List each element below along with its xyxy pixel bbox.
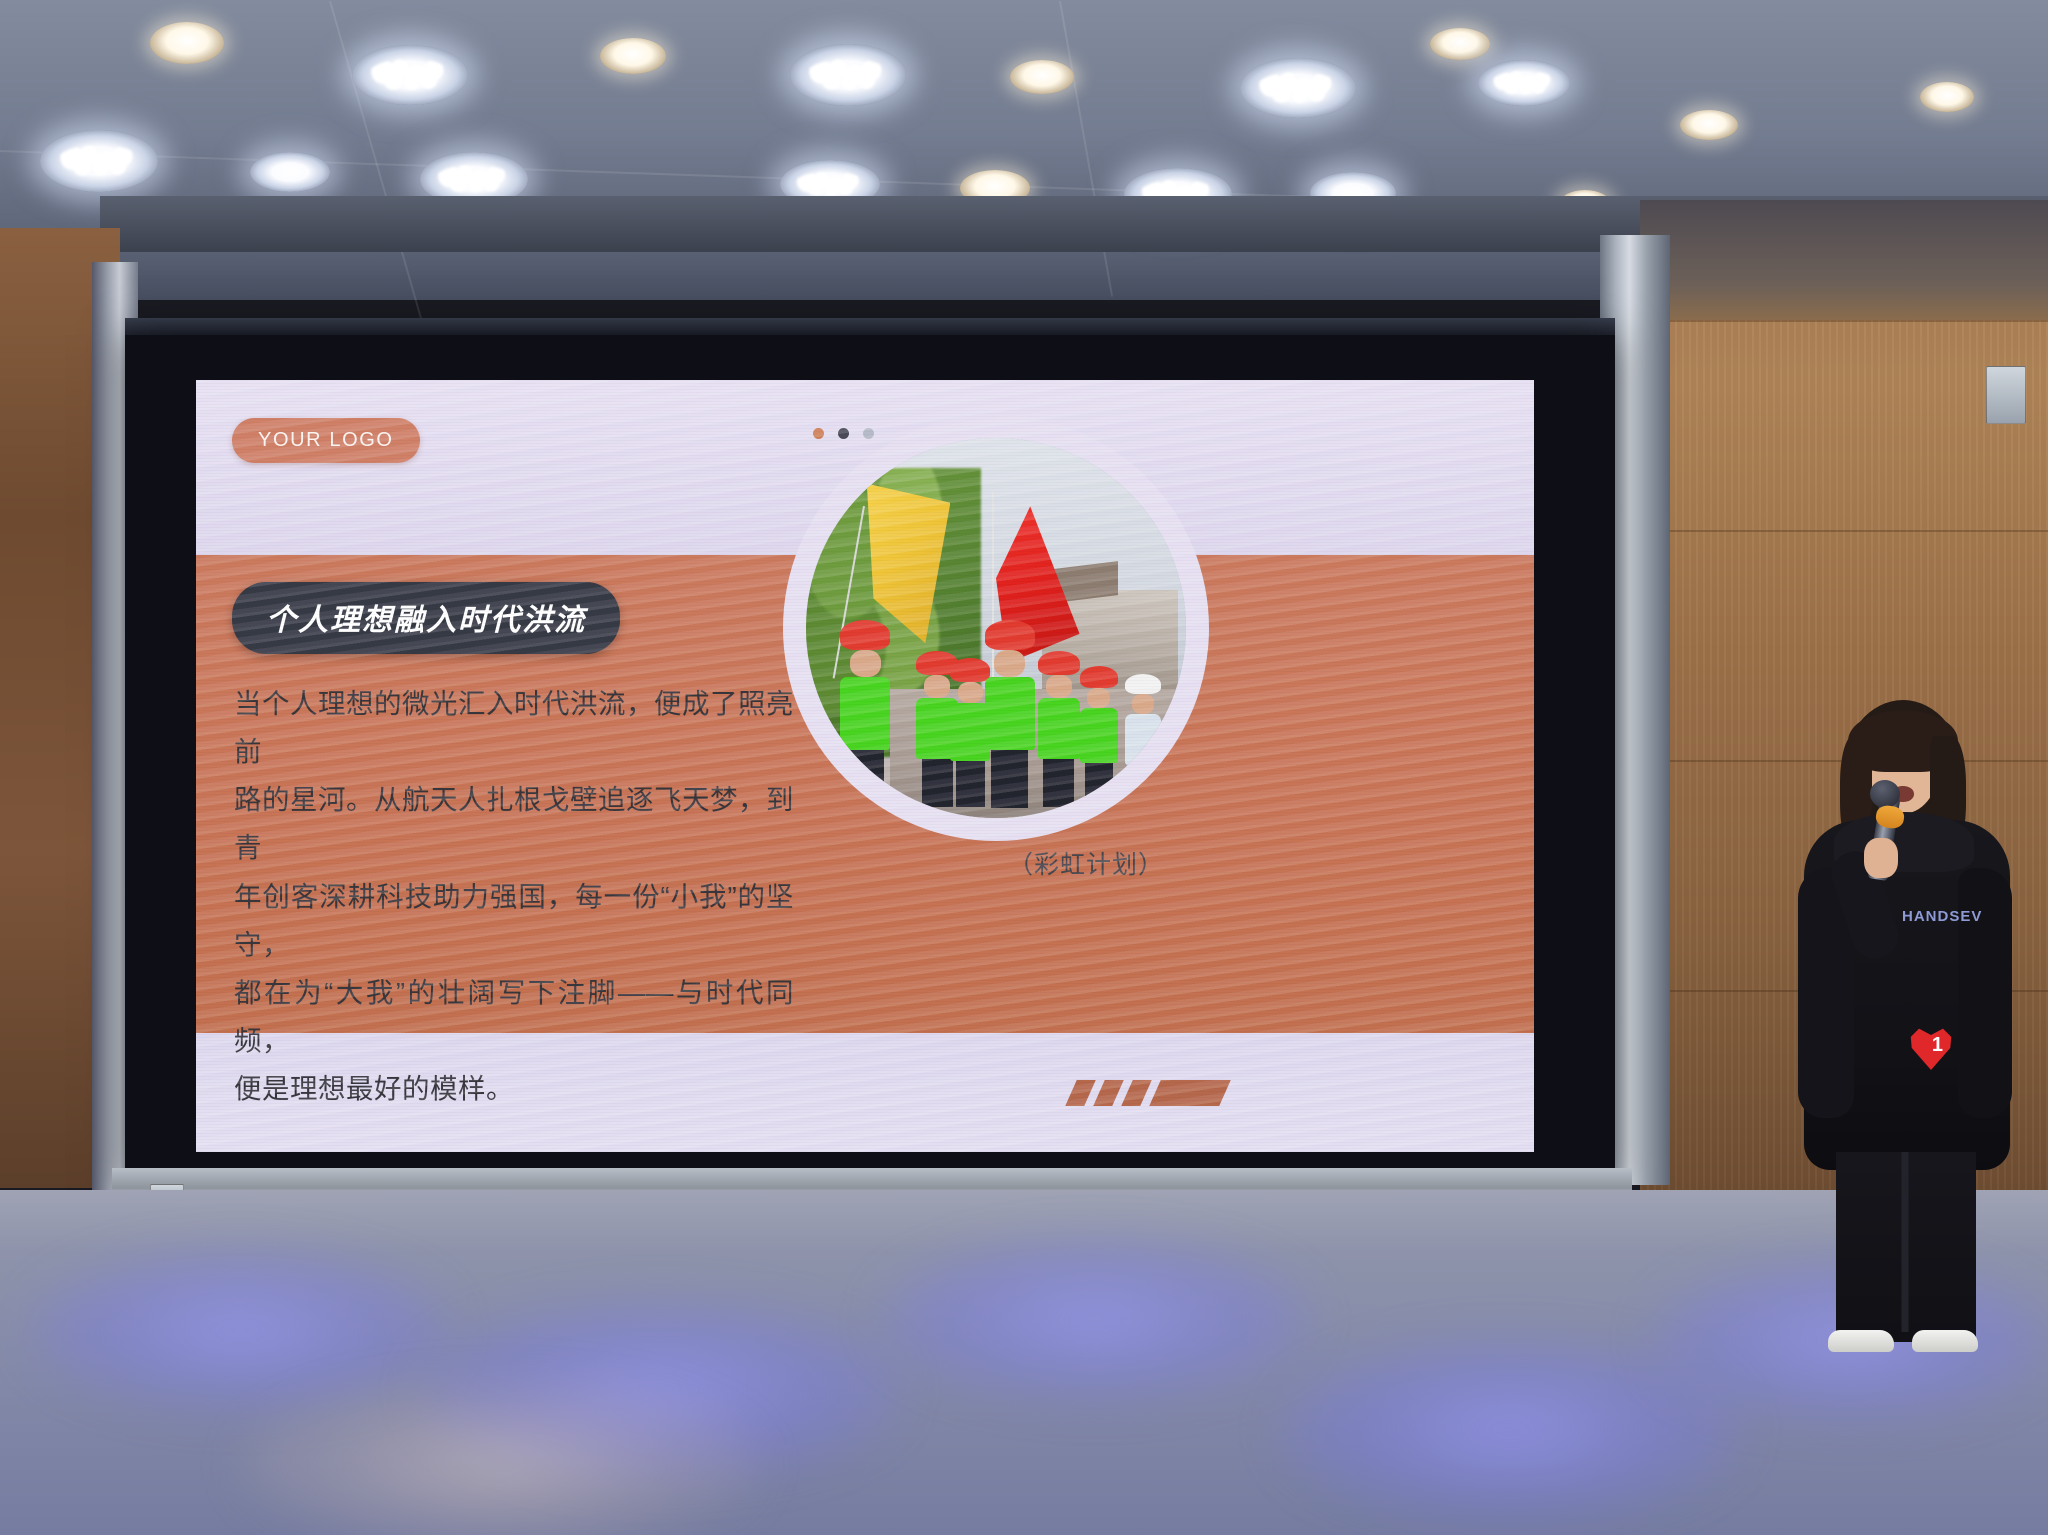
ceiling-light — [150, 22, 224, 64]
slash-icon — [1121, 1080, 1152, 1106]
heart-badge-label: 1 — [1932, 1034, 1943, 1057]
slide-title: 个人理想融入时代洪流 — [232, 582, 620, 654]
ceiling-light — [1240, 58, 1356, 118]
ceiling-light — [1920, 82, 1974, 112]
body-line: 便是理想最好的模样。 — [234, 1065, 794, 1113]
ceiling-light — [600, 38, 666, 74]
wall-upper-band — [1640, 200, 2048, 320]
floor-light-pool — [880, 1240, 1310, 1400]
auditorium-scene: YOUR LOGO 个人理想融入时代洪流 当个人理想的微光汇入时代洪流，便成了照… — [0, 0, 2048, 1535]
ceiling-light — [1430, 28, 1490, 60]
presenter-leg-gap — [1902, 1152, 1909, 1332]
presentation-slide: YOUR LOGO 个人理想融入时代洪流 当个人理想的微光汇入时代洪流，便成了照… — [196, 380, 1534, 1152]
wall-panel-line — [1640, 320, 2048, 322]
wall-panel-box — [1986, 366, 2026, 424]
ceiling-light — [250, 152, 330, 192]
presenter: HANDSEV 1 — [1790, 700, 2020, 1360]
photo-person — [840, 620, 890, 802]
photo-person — [1125, 674, 1161, 803]
ceiling-light — [790, 44, 906, 106]
body-line: 路的星河。从航天人扎根戈壁追逐飞天梦，到青 — [234, 776, 794, 872]
photo-person — [985, 620, 1035, 802]
logo-badge[interactable]: YOUR LOGO — [232, 418, 420, 463]
photo-person — [1080, 666, 1118, 803]
slide-photo — [806, 438, 1186, 818]
floor-light-pool — [30, 1250, 450, 1410]
slash-icon — [1149, 1080, 1231, 1106]
slide-body-text: 当个人理想的微光汇入时代洪流，便成了照亮前 路的星河。从航天人扎根戈壁追逐飞天梦… — [234, 680, 794, 1113]
presenter-hand — [1864, 838, 1898, 878]
ceiling-light — [1478, 60, 1570, 106]
decoration-slashes — [1071, 1080, 1225, 1106]
ceiling-light — [1010, 60, 1074, 94]
presenter-shoe — [1828, 1330, 1894, 1352]
photo-person — [1038, 651, 1080, 803]
photo-caption: （彩虹计划） — [1008, 845, 1164, 881]
body-line: 年创客深耕科技助力强国，每一份“小我”的坚守， — [234, 873, 794, 969]
ceiling-light — [352, 45, 468, 105]
presenter-shoe — [1912, 1330, 1978, 1352]
wall-panel-line — [1640, 530, 2048, 532]
body-line: 当个人理想的微光汇入时代洪流，便成了照亮前 — [234, 680, 794, 776]
presenter-arm-right — [1958, 868, 2012, 1118]
body-line: 都在为“大我”的壮阔写下注脚——与时代同频， — [234, 969, 794, 1065]
ceiling-light — [1680, 110, 1738, 140]
hoodie-logo-text: HANDSEV — [1902, 908, 1982, 934]
slash-icon — [1093, 1080, 1124, 1106]
ceiling-light — [40, 130, 158, 192]
